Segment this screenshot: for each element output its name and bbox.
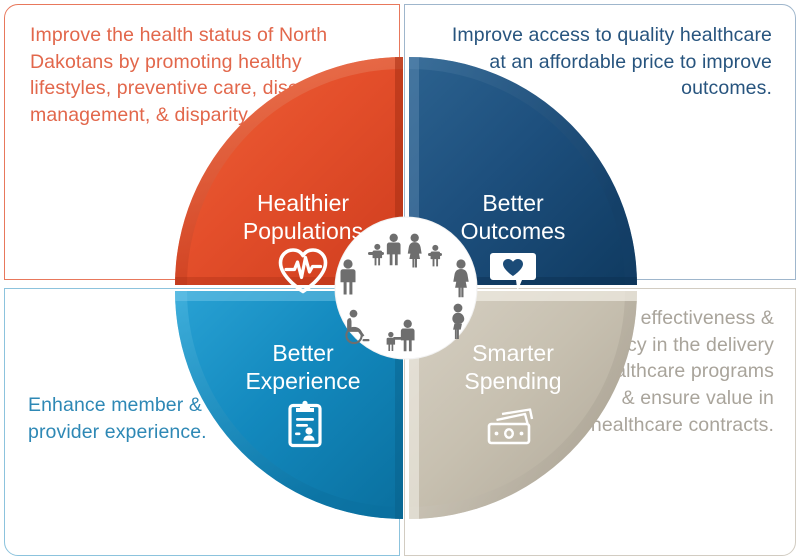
quadrant-wheel: Healthier Populations Better Outcomes Be…	[170, 52, 642, 524]
wheel-svg	[170, 52, 642, 524]
strategy-quadrant-diagram: Improve the health status of North Dakot…	[0, 0, 800, 560]
